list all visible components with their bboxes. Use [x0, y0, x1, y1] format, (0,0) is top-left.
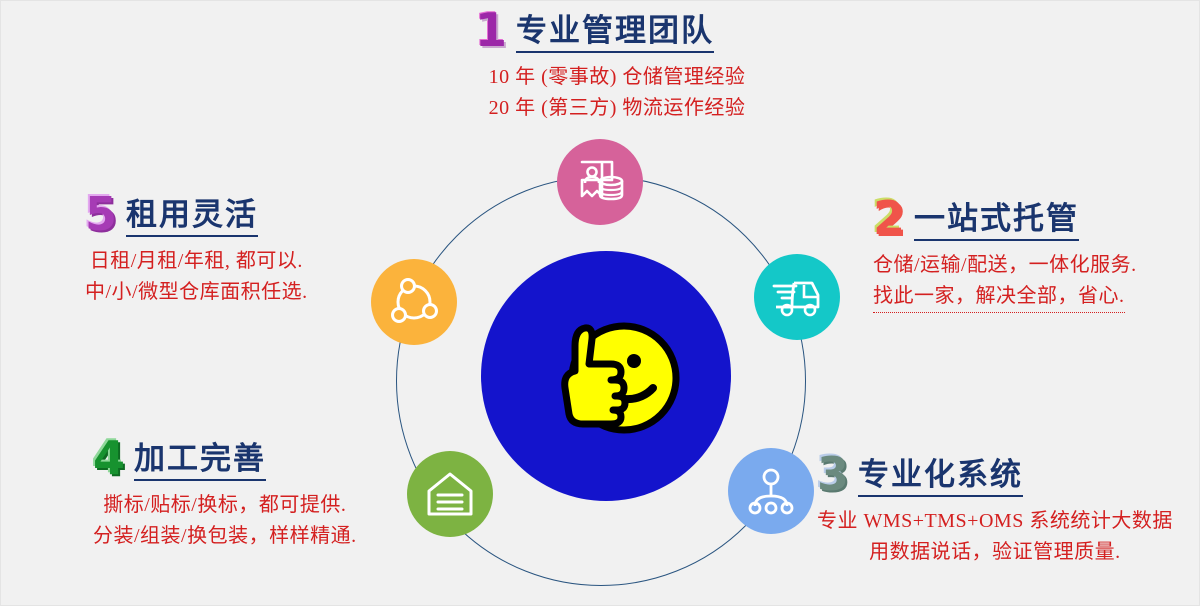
feature-5-lines: 日租/月租/年租, 都可以. 中/小/微型仓库面积任选.	[85, 246, 308, 308]
feature-block-4: 4 加工完善 撕标/贴标/换标，都可提供. 分装/组装/换包装，样样精通.	[93, 437, 357, 552]
feature-3-heading: 3 专业化系统	[817, 453, 1173, 497]
feature-5-heading: 5 租用灵活	[85, 193, 308, 237]
feature-2-line-1: 仓储/运输/配送，一体化服务.	[873, 250, 1137, 281]
bubble-flexible-rental	[371, 259, 457, 345]
feature-2-line-2-text: 找此一家，解决全部，省心.	[873, 281, 1125, 313]
feature-2-heading: 2 一站式托管	[873, 197, 1137, 241]
infographic-canvas: 1 专业管理团队 10 年 (零事故) 仓储管理经验 20 年 (第三方) 物流…	[0, 0, 1200, 606]
feature-3-line-2: 用数据说话，验证管理质量.	[817, 537, 1173, 568]
feature-5-line-2: 中/小/微型仓库面积任选.	[85, 277, 308, 308]
feature-1-title: 专业管理团队	[516, 13, 714, 53]
feature-5-title: 租用灵活	[126, 197, 258, 237]
feature-2-line-2: 找此一家，解决全部，省心.	[873, 281, 1137, 313]
feature-3-number: 3	[817, 453, 848, 497]
feature-1-line-1: 10 年 (零事故) 仓储管理经验	[467, 62, 767, 93]
share-nodes-icon	[389, 277, 439, 327]
feature-1-line-2: 20 年 (第三方) 物流运作经验	[467, 93, 767, 124]
feature-3-lines: 专业 WMS+TMS+OMS 系统统计大数据 用数据说话，验证管理质量.	[817, 506, 1173, 568]
feature-block-5: 5 租用灵活 日租/月租/年租, 都可以. 中/小/微型仓库面积任选.	[85, 193, 308, 308]
feature-1-number: 1	[475, 9, 506, 53]
certificate-person-coins-icon	[574, 156, 626, 208]
feature-4-lines: 撕标/贴标/换标，都可提供. 分装/组装/换包装，样样精通.	[93, 490, 357, 552]
feature-5-line-1: 日租/月租/年租, 都可以.	[85, 246, 308, 277]
feature-3-line-1: 专业 WMS+TMS+OMS 系统统计大数据	[817, 506, 1173, 537]
warehouse-icon	[424, 469, 476, 519]
org-chart-network-icon	[746, 466, 796, 516]
feature-1-lines: 10 年 (零事故) 仓储管理经验 20 年 (第三方) 物流运作经验	[467, 62, 767, 124]
delivery-truck-icon	[770, 273, 824, 321]
feature-3-title: 专业化系统	[858, 457, 1023, 497]
feature-2-number: 2	[873, 197, 904, 241]
bubble-one-stop-logistics	[754, 254, 840, 340]
bubble-professional-system	[728, 448, 814, 534]
bubble-processing-service	[407, 451, 493, 537]
feature-4-number: 4	[93, 437, 124, 481]
feature-1-heading: 1 专业管理团队	[467, 9, 767, 53]
bubble-management-team	[557, 139, 643, 225]
thumbs-up-smiley-icon	[531, 306, 681, 446]
feature-4-line-1: 撕标/贴标/换标，都可提供.	[93, 490, 357, 521]
center-hub	[481, 251, 731, 501]
feature-4-line-2: 分装/组装/换包装，样样精通.	[93, 521, 357, 552]
feature-4-title: 加工完善	[134, 441, 266, 481]
feature-2-title: 一站式托管	[914, 201, 1079, 241]
feature-block-1: 1 专业管理团队 10 年 (零事故) 仓储管理经验 20 年 (第三方) 物流…	[467, 9, 767, 124]
feature-5-number: 5	[85, 193, 116, 237]
feature-block-3: 3 专业化系统 专业 WMS+TMS+OMS 系统统计大数据 用数据说话，验证管…	[817, 453, 1173, 568]
feature-4-heading: 4 加工完善	[93, 437, 357, 481]
feature-block-2: 2 一站式托管 仓储/运输/配送，一体化服务. 找此一家，解决全部，省心.	[873, 197, 1137, 313]
feature-2-lines: 仓储/运输/配送，一体化服务. 找此一家，解决全部，省心.	[873, 250, 1137, 313]
